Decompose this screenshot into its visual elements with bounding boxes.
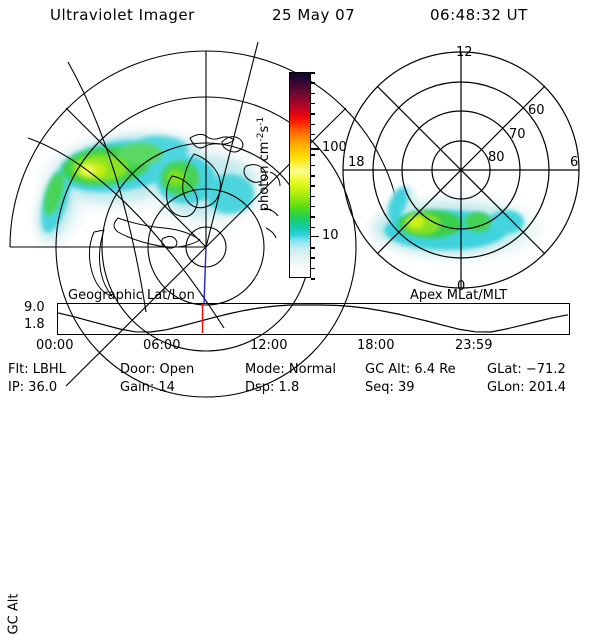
status-footer: Flt: LBHL IP: 36.0 Door: Open Gain: 14 M… <box>0 362 600 400</box>
mlat-label-70: 70 <box>509 127 526 142</box>
colorbar-box <box>289 72 311 278</box>
mlt-label-12: 12 <box>456 45 473 60</box>
orbit-xtick-4: 23:59 <box>455 338 492 353</box>
mlt-grid <box>343 52 579 288</box>
colorbar: photon cm-2s-1 10010 <box>268 60 330 292</box>
observation-date: 25 May 07 <box>272 6 355 24</box>
status-gc-alt: GC Alt: 6.4 Re <box>365 362 456 377</box>
status-glat: GLat: −71.2 <box>487 362 566 377</box>
header-bar: Ultraviolet Imager 25 May 07 06:48:32 UT <box>0 6 600 30</box>
colorbar-axis-label: photon cm-2s-1 <box>256 117 272 211</box>
mlat-label-60: 60 <box>528 103 545 118</box>
aurora-emission-mag <box>367 181 543 262</box>
orbit-plot-box[interactable] <box>57 303 570 335</box>
status-glon: GLon: 201.4 <box>487 380 566 395</box>
aurora-emission-geo <box>22 118 266 255</box>
status-gain: Gain: 14 <box>120 380 175 395</box>
geographic-panel-title: Geographic Lat/Lon <box>68 288 195 303</box>
mlt-label-6: 6 <box>570 155 578 170</box>
orbit-altitude-strip[interactable]: GC Alt 9.0 1.8 Geographic Lat/Lon Apex M… <box>0 292 600 354</box>
observation-time: 06:48:32 UT <box>430 6 528 24</box>
geographic-plot <box>8 42 273 292</box>
status-dsp: Dsp: 1.8 <box>245 380 299 395</box>
orbit-ylabel: GC Alt <box>7 594 22 634</box>
orbit-xtick-1: 06:00 <box>143 338 180 353</box>
colorbar-ticks <box>311 72 319 278</box>
magnetic-dial-panel[interactable]: 12 18 6 0 60 70 80 <box>330 42 592 292</box>
instrument-title: Ultraviolet Imager <box>50 6 195 24</box>
apex-mlat-mlt-plot: 12 18 6 0 60 70 80 <box>330 42 592 292</box>
orbit-xtick-3: 18:00 <box>357 338 394 353</box>
colorbar-gradient <box>290 73 310 277</box>
status-mode: Mode: Normal <box>245 362 336 377</box>
status-seq: Seq: 39 <box>365 380 415 395</box>
status-flight-mode: Flt: LBHL <box>8 362 66 377</box>
orbit-ytick-low: 1.8 <box>24 317 45 332</box>
geographic-image-panel[interactable] <box>8 42 273 292</box>
orbit-xtick-2: 12:00 <box>250 338 287 353</box>
orbit-xtick-0: 00:00 <box>36 338 73 353</box>
orbit-altitude-trace <box>58 304 568 333</box>
magnetic-panel-title: Apex MLat/MLT <box>410 288 507 303</box>
status-door: Door: Open <box>120 362 194 377</box>
status-ip: IP: 36.0 <box>8 380 57 395</box>
mlt-label-18: 18 <box>348 155 365 170</box>
mlat-label-80: 80 <box>488 150 505 165</box>
orbit-ytick-high: 9.0 <box>24 300 45 315</box>
